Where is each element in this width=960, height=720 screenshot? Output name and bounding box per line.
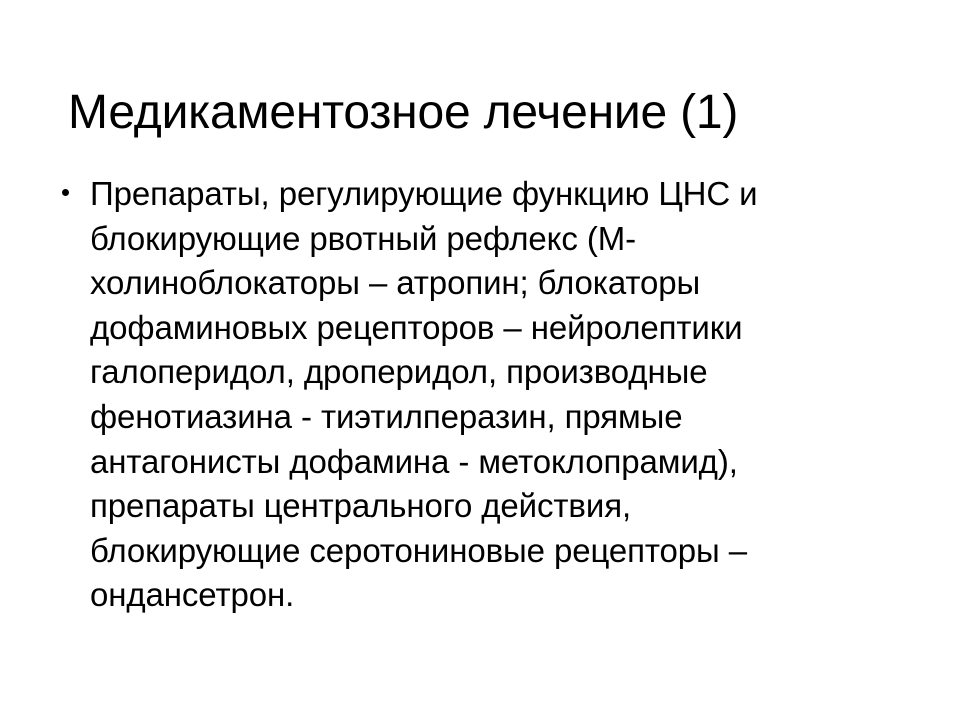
bullet-text-block: Препараты, регулирующие функцию ЦНС и бл…: [90, 172, 916, 618]
bullet-text-line: фенотиазина - тиэтилперазин, прямые: [90, 395, 916, 440]
bullet-text-line: блокирующие рвотный рефлекс (М-: [90, 217, 916, 262]
bullet-dot-icon: [62, 189, 69, 196]
slide-body: Препараты, регулирующие функцию ЦНС и бл…: [56, 172, 916, 618]
bullet-text-line: Препараты, регулирующие функцию ЦНС и: [90, 172, 916, 217]
bullet-text-line: дофаминовых рецепторов – нейролептики: [90, 306, 916, 351]
bullet-text-line: холиноблокаторы – атропин; блокаторы: [90, 261, 916, 306]
presentation-slide: Медикаментозное лечение (1) Препараты, р…: [0, 0, 960, 720]
bullet-text-line: препараты центрального действия,: [90, 484, 916, 529]
bullet-text-line: ондансетрон.: [90, 573, 916, 618]
bullet-text-line: блокирующие серотониновые рецепторы –: [90, 529, 916, 574]
bullet-text-line: галоперидол, дроперидол, производные: [90, 350, 916, 395]
bullet-list-item: Препараты, регулирующие функцию ЦНС и бл…: [56, 172, 916, 618]
bullet-text-line: антагонисты дофамина - метоклопрамид),: [90, 440, 916, 485]
slide-title: Медикаментозное лечение (1): [68, 84, 908, 142]
